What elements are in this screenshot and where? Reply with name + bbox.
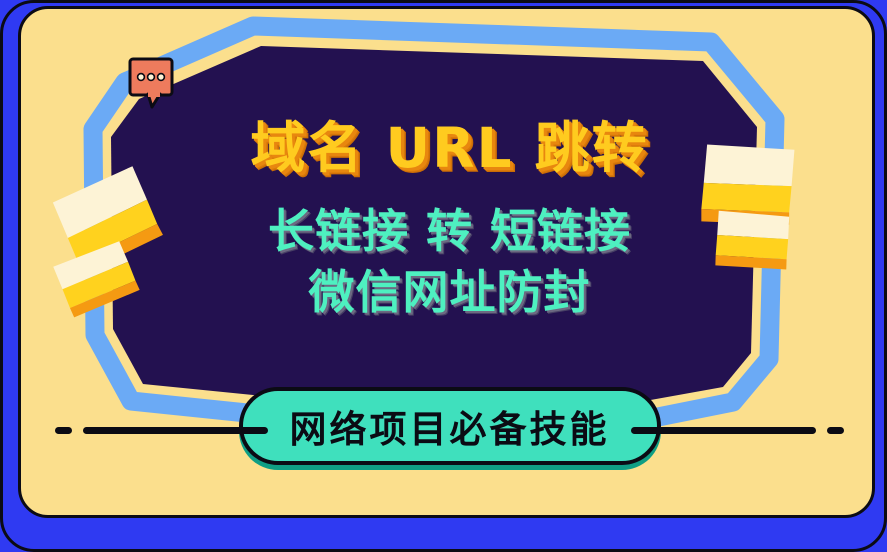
badge-row: 网络项目必备技能 [21,387,875,465]
skill-badge[interactable]: 网络项目必备技能 [239,387,661,465]
dash-rule-right [631,427,816,434]
chat-bubble-icon [128,57,174,109]
skill-badge-label: 网络项目必备技能 [290,399,610,453]
dash-dot-left [55,427,72,434]
dash-rule-left [83,427,268,434]
dash-dot-right [827,427,844,434]
poster-root: 域名 URL 跳转 长链接 转 短链接 微信网址防封 网络项目必备技能 [0,0,887,552]
cream-card: 域名 URL 跳转 长链接 转 短链接 微信网址防封 网络项目必备技能 [18,6,875,518]
poster-stage: 域名 URL 跳转 长链接 转 短链接 微信网址防封 网络项目必备技能 [21,9,875,518]
